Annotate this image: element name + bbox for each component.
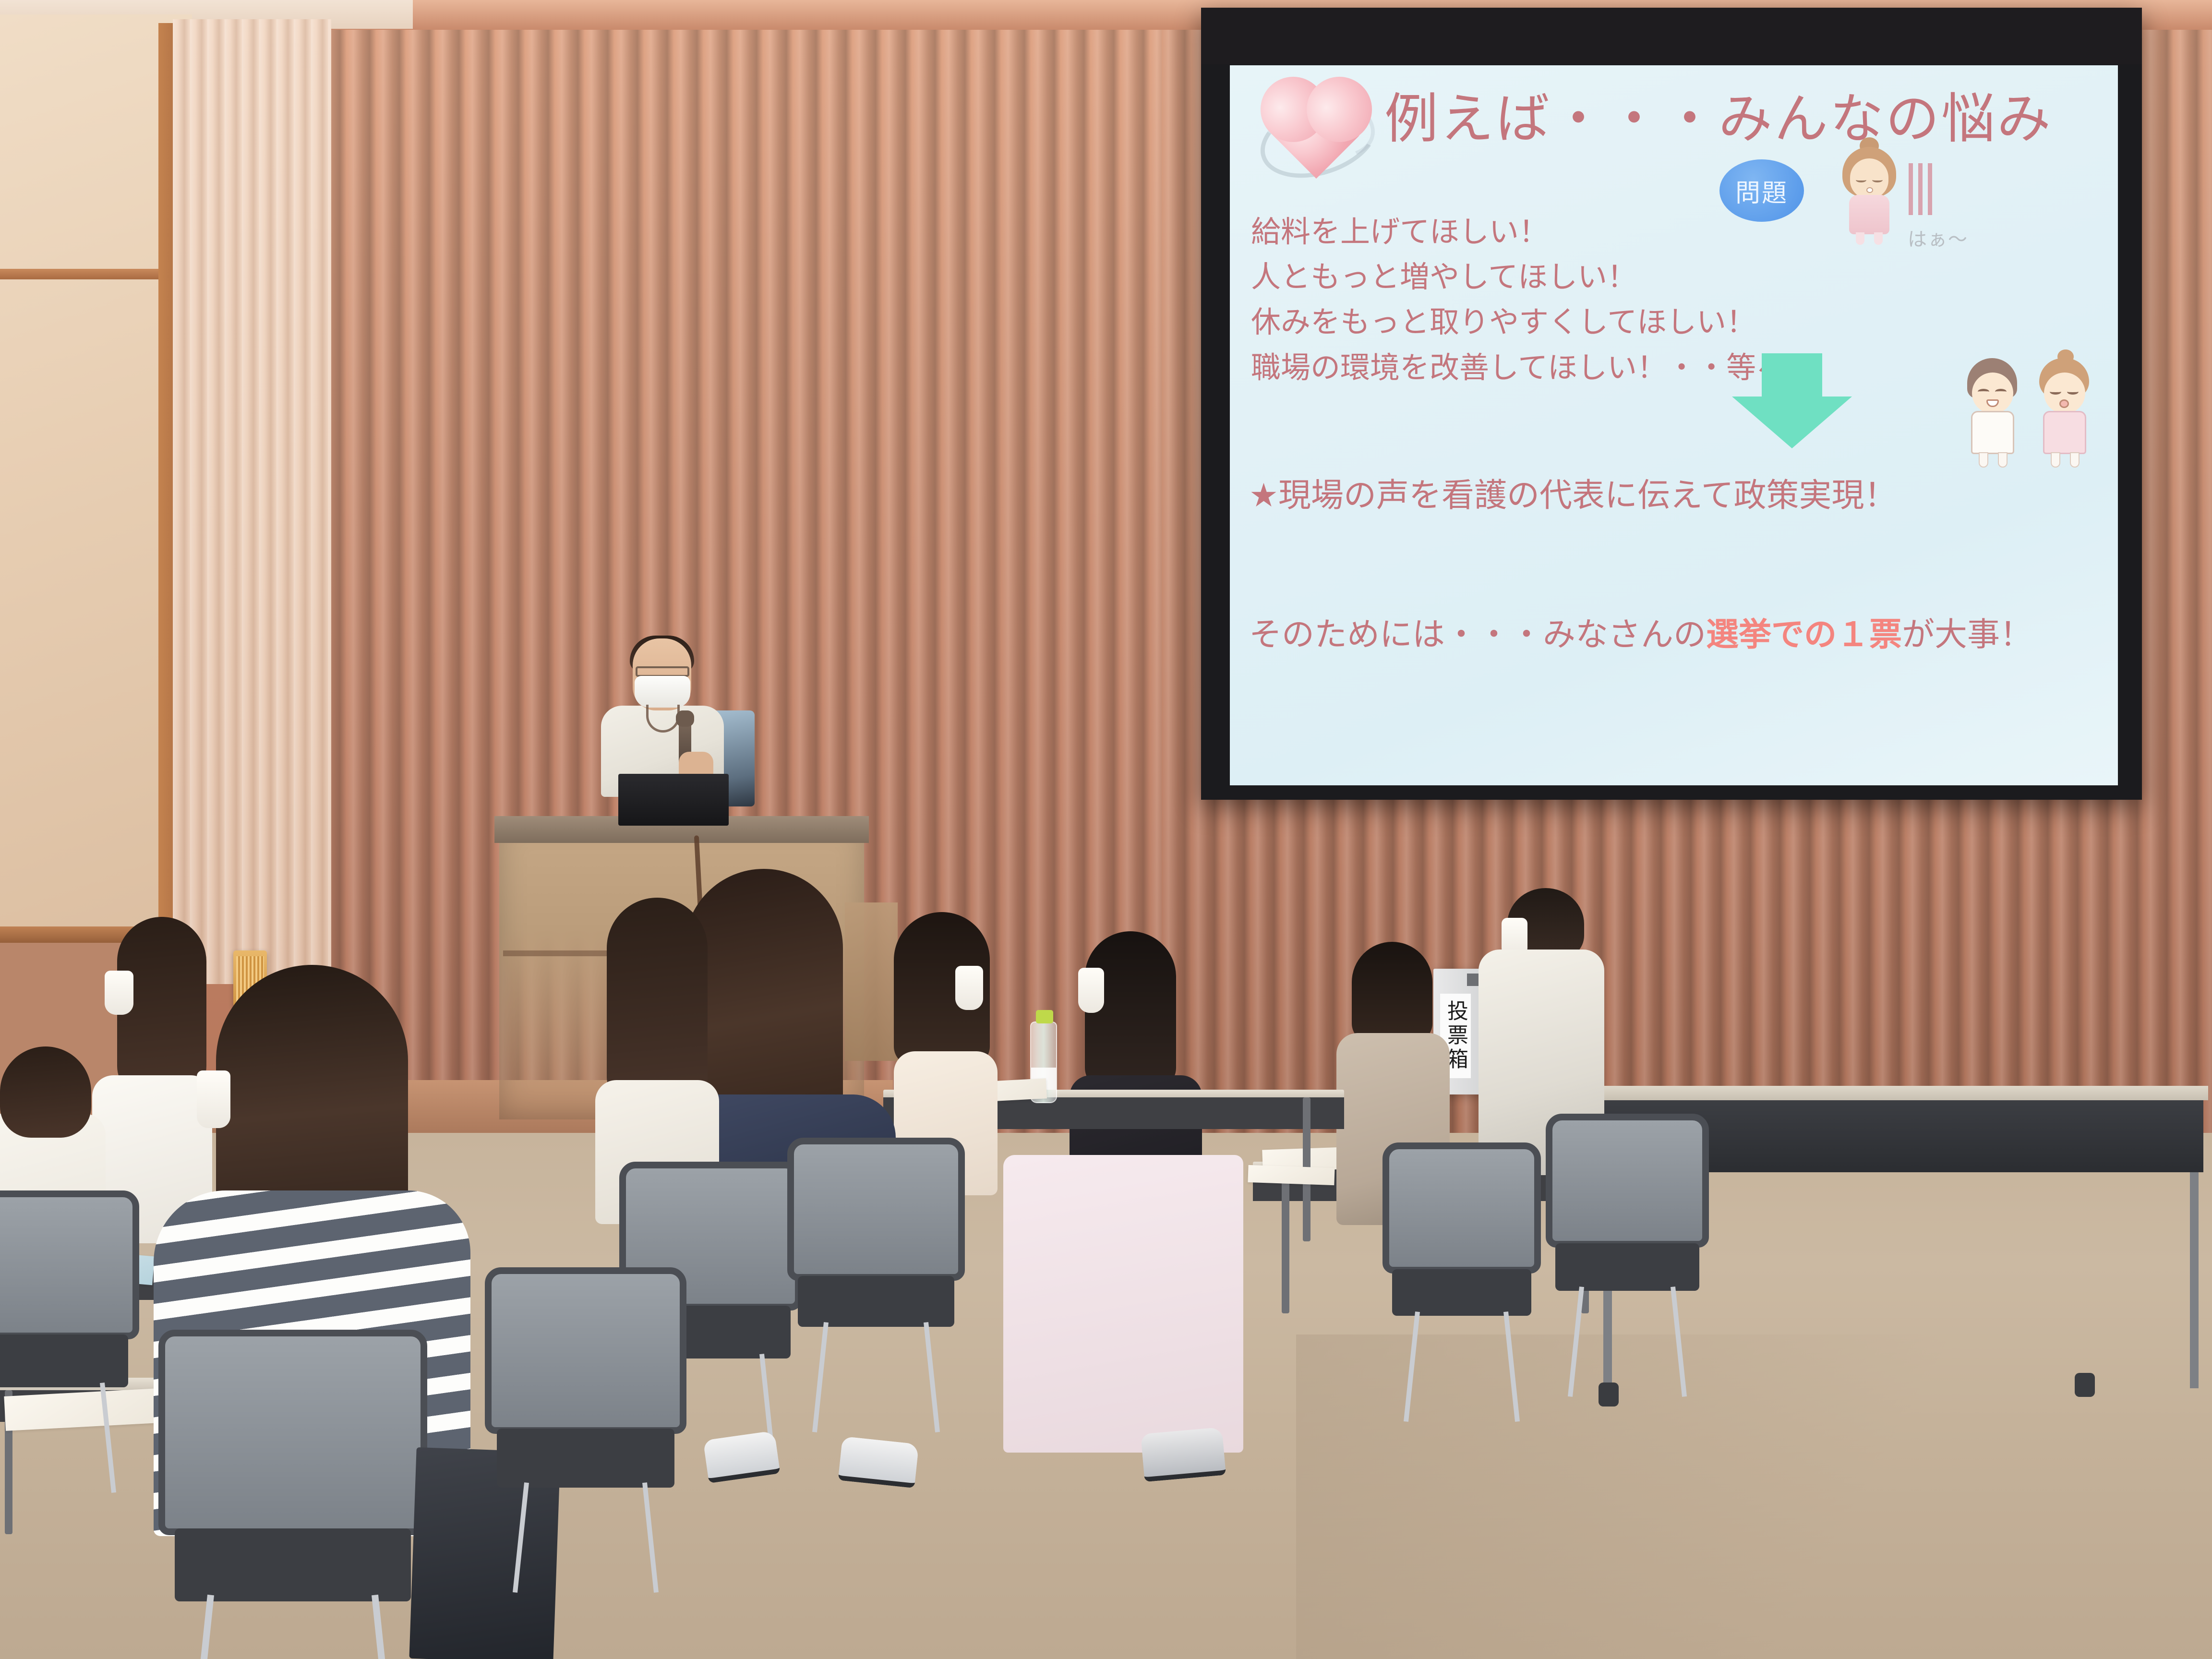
down-arrow-icon xyxy=(1762,353,1822,397)
closing-suffix: が大事！ xyxy=(1902,616,2032,654)
glasses-icon xyxy=(636,666,689,677)
male-nurse-icon xyxy=(1960,353,2027,473)
microphone-head xyxy=(676,710,694,727)
chair xyxy=(0,1190,139,1431)
problem-badge-label: 問題 xyxy=(1735,173,1788,209)
screen-top-border xyxy=(1201,8,2142,64)
down-arrow-head-icon xyxy=(1732,397,1852,448)
draped-jacket xyxy=(1003,1155,1243,1453)
empty-folding-table xyxy=(1594,1086,2208,1100)
chair xyxy=(787,1138,965,1368)
face-mask-icon xyxy=(635,676,690,708)
slide-bullet-4: 職場の環境を改善してほしい！・・等々 xyxy=(1251,345,1786,390)
slide-bullet-3: 休みをもっと取りやすくしてほしい！ xyxy=(1251,300,1786,345)
presentation-slide: 例えば・・・みんなの悩み 給料を上げてほしい！ 人ともっと増やしてほしい！ 休み… xyxy=(1230,65,2118,785)
slide-bullet-1: 給料を上げてほしい！ xyxy=(1251,209,1786,254)
slide-bullet-2: 人ともっと増やしてほしい！ xyxy=(1251,254,1786,300)
problem-badge: 問題 xyxy=(1719,159,1804,222)
female-nurse-icon xyxy=(2032,353,2099,473)
shoe xyxy=(1141,1427,1226,1482)
closing-highlight: 選挙での１票 xyxy=(1706,616,1902,654)
heart-logo-icon xyxy=(1259,84,1383,194)
table-caster xyxy=(1599,1382,1619,1407)
stress-lines-icon xyxy=(1909,163,1936,215)
presenter-laptop xyxy=(618,774,729,826)
sheer-curtain xyxy=(173,19,331,984)
sigh-text: はぁ〜 xyxy=(1908,224,1968,252)
handout-paper xyxy=(1248,1165,1334,1185)
chair xyxy=(485,1267,686,1536)
slide-conclusion: ★現場の声を看護の代表に伝えて政策実現！ xyxy=(1249,469,1897,516)
closing-prefix: そのためには・・・みなさんの xyxy=(1249,616,1706,654)
slide-bullet-list: 給料を上げてほしい！ 人ともっと増やしてほしい！ 休みをもっと取りやすくしてほし… xyxy=(1251,209,1786,390)
worried-nurse-icon xyxy=(1830,137,1907,248)
seminar-room-photo: 例えば・・・みんなの悩み 給料を上げてほしい！ 人ともっと増やしてほしい！ 休み… xyxy=(0,0,2212,1659)
chair xyxy=(1546,1114,1709,1330)
chair-foreground xyxy=(158,1330,427,1659)
nurse-couple-icon xyxy=(1960,353,2104,478)
chair xyxy=(1382,1142,1541,1354)
slide-closing-line: そのためには・・・みなさんの選挙での１票が大事！ xyxy=(1249,608,2032,655)
shoe xyxy=(838,1436,919,1488)
table-caster xyxy=(2075,1373,2095,1397)
slide-title: 例えば・・・みんなの悩み xyxy=(1384,89,2053,149)
